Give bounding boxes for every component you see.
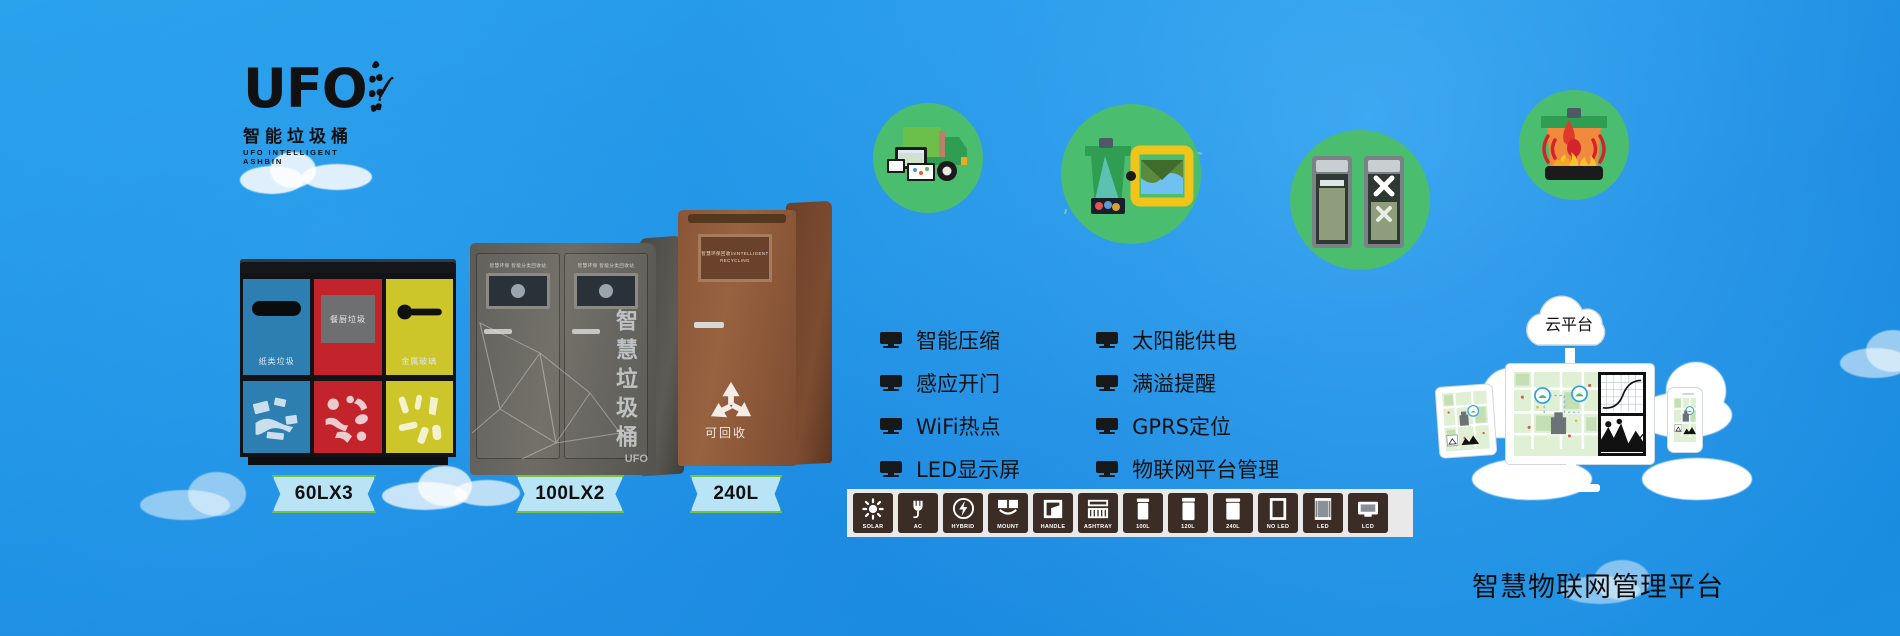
spec-icon-solar: SOLAR [853,493,893,533]
feature-list: 智能压缩 感应开门 WiFi热点 LED显示屏 太阳能供电 满溢提醒 [880,325,1279,484]
growth-line-chart-icon [1601,375,1643,412]
monitor-bullet-icon [1096,418,1118,434]
bin-compartment-paper: 纸类垃圾 [243,273,310,457]
bin-base [248,457,448,465]
spec-icon-no-led: NO LED [1258,493,1298,533]
monitor-bullet-icon [880,332,902,348]
compartment-label: 纸类垃圾 [243,356,310,367]
phone-screen [1674,398,1696,442]
spec-icon-240l: 240L [1213,493,1253,533]
map-thumbnail-icon [1442,391,1490,450]
platform-title: 智慧物联网管理平台 [1398,565,1798,604]
kitchen-waste-pictogram-icon [320,391,377,448]
spec-caption: 120L [1168,524,1208,533]
feature-item: 智能压缩 [880,325,1020,355]
compaction-bins-icon [1290,130,1430,270]
bin-handle [694,322,724,328]
handle-icon [1033,493,1073,524]
feature-label: WiFi热点 [916,411,1001,441]
bin-compartment-kitchen: 餐厨垃圾 [314,273,381,457]
led-panel-icon [1303,493,1343,524]
monitor-screen [1514,372,1646,456]
feature-column-left: 智能压缩 感应开门 WiFi热点 LED显示屏 [880,325,1020,484]
bin-120l-icon [1168,493,1208,524]
feature-item: WiFi热点 [880,411,1020,441]
feature-item: 物联网平台管理 [1096,454,1279,484]
screen-caption-right: 智慧环保 智能分类回收站 [571,263,641,269]
device-desktop-monitor [1506,364,1654,464]
spec-caption: NO LED [1258,524,1298,533]
metal-glass-pictogram-icon [391,391,448,448]
product-triple-60l-bin: 纸类垃圾 餐厨垃圾 [240,259,456,467]
spec-icon-ac: AC [898,493,938,533]
sun-icon [853,493,893,524]
polygon-graphic-decoration [470,313,630,463]
spec-icon-mount: MOUNT [988,493,1028,533]
spec-icon-handle: HANDLE [1033,493,1073,533]
spec-icon-led: LED [1303,493,1343,533]
spec-icon-ashtray: ASHTRAY [1078,493,1118,533]
monitor-bullet-icon [1096,375,1118,391]
power-plug-icon [898,493,938,524]
feature-item: 满溢提醒 [1096,368,1279,398]
spec-caption: MOUNT [988,524,1028,533]
spec-icon-120l: 120L [1168,493,1208,533]
bin-lid-strip [688,214,786,223]
screen-caption-left: 智慧环保 智能分类回收站 [483,263,553,269]
compartment-upper-panel: 餐厨垃圾 [314,279,381,375]
logo-english-tagline: UFO INTELLIGENT ASHBIN [243,148,373,166]
bin-100l-icon [1123,493,1163,524]
feature-circle-smart-compaction [1290,130,1430,270]
spec-caption: 100L [1123,524,1163,533]
compartment-lower-panel [386,381,453,453]
promo-banner: UFO 智能垃圾桶 UFO INTELLIGENT ASHBIN 纸类垃圾 [0,0,1900,636]
feature-label: GPRS定位 [1132,411,1231,441]
capacity-tag-60lx3: 60LX3 [272,475,376,513]
bin-screen-right [574,273,638,309]
spec-caption: HYBRID [943,524,983,533]
garbage-truck-icon [873,103,983,213]
device-tablet [1436,384,1497,458]
phone-speaker [1682,393,1694,395]
spec-caption: AC [898,524,938,533]
product-single-240l-bin: 智慧环保回收\nINTELLIGENT RECYCLING 可回收 [678,210,796,466]
monitor-bullet-icon [1096,461,1118,477]
feature-item: LED显示屏 [880,454,1020,484]
cloud-platform-label: 云平台 [1514,311,1624,335]
city-map-icon [1514,372,1598,449]
bin-240l-icon [1213,493,1253,524]
spec-icon-strip: SOLAR AC HYBRID MOUNT HANDLE [847,489,1413,537]
no-led-icon [1258,493,1298,524]
spec-icon-lcd: LCD [1348,493,1388,533]
monitor-map-panel [1514,372,1598,456]
feature-item: 感应开门 [880,368,1020,398]
spec-caption: 240L [1213,524,1253,533]
bin-body: 纸类垃圾 餐厨垃圾 [240,273,456,457]
recycle-symbol-icon [706,380,756,422]
screen-indicator [599,284,613,298]
monitor-bullet-icon [880,461,902,477]
bin-shell: 智慧环保回收\nINTELLIGENT RECYCLING 可回收 [678,210,796,466]
iot-platform-illustration: 云平台 [1430,300,1760,550]
feature-label: 太阳能供电 [1132,325,1237,355]
lcd-screen-icon [1348,493,1388,524]
tablet-screen [1442,391,1490,452]
line-chart-widget [1601,375,1643,413]
product-dual-100l-bin: 智慧环保 智能分类回收站 智慧环保 智能分类回收站 智慧垃圾桶 UFO [470,243,656,475]
capacity-tag-240l: 240L [690,475,782,513]
paper-waste-pictogram-icon [248,391,305,448]
compartment-lower-panel [314,381,381,453]
compartment-upper-panel: 纸类垃圾 [243,279,310,375]
waste-slot [252,301,300,316]
ashtray-icon [1078,493,1118,524]
spec-caption: HANDLE [1033,524,1073,533]
brand-logo: UFO 智能垃圾桶 UFO INTELLIGENT ASHBIN [243,58,373,158]
monitor-base [1542,484,1600,492]
cloud-platform-badge: 云平台 [1514,295,1624,351]
feature-label: LED显示屏 [916,454,1020,484]
feature-label: 智能压缩 [916,325,1000,355]
feature-circle-smart-collection-vehicle [873,103,983,213]
spec-caption: LED [1303,524,1343,533]
monitor-bullet-icon [1096,332,1118,348]
feature-item: GPRS定位 [1096,411,1279,441]
bin-compartment-metal-glass: 金属玻璃 [386,273,453,457]
logo-chinese-name: 智能垃圾桶 [243,122,373,147]
bin-lid [240,259,456,273]
compartment-upper-panel: 金属玻璃 [386,279,453,375]
area-chart-icon [1601,416,1643,453]
recycle-label: 可回收 [678,424,774,441]
bin-shell: 智慧环保 智能分类回收站 智慧环保 智能分类回收站 智慧垃圾桶 UFO [470,243,656,475]
logo-ring-icon [369,61,383,117]
feature-item: 太阳能供电 [1096,325,1279,355]
feature-circle-overflow-sensing [1061,104,1201,244]
hybrid-bolt-icon [943,493,983,524]
spec-icon-hybrid: HYBRID [943,493,983,533]
monitor-stand [1566,464,1576,486]
spec-caption: LCD [1348,524,1388,533]
screen-caption: 智慧环保回收\nINTELLIGENT RECYCLING [701,251,769,265]
bin-sensor-icon [1061,104,1201,244]
metal-glass-slot-icon [392,295,446,329]
map-thumbnail-icon [1674,398,1696,437]
compartment-plate-label: 餐厨垃圾 [321,295,375,343]
spec-icon-100l: 100L [1123,493,1163,533]
area-chart-widget [1601,416,1643,454]
spec-caption: ASHTRAY [1078,524,1118,533]
feature-label: 物联网平台管理 [1132,454,1279,484]
monitor-bullet-icon [880,375,902,391]
feature-circle-fire-alarm [1519,90,1629,200]
bin-screen-left [486,273,550,309]
logo-letters: UFO [243,62,367,116]
feature-label: 感应开门 [916,368,1000,398]
device-smartphone [1668,388,1702,452]
monitor-chart-panel [1598,372,1646,456]
compartment-label: 金属玻璃 [386,356,453,367]
screen-indicator [511,284,525,298]
compartment-lower-panel [243,381,310,453]
monitor-bullet-icon [880,418,902,434]
fire-alarm-bin-icon [1519,90,1629,200]
feature-column-right: 太阳能供电 满溢提醒 GPRS定位 物联网平台管理 [1096,325,1279,484]
wall-mount-icon [988,493,1028,524]
capacity-tag-100lx2: 100LX2 [516,475,624,513]
feature-label: 满溢提醒 [1132,368,1216,398]
spec-caption: SOLAR [853,524,893,533]
bin-screen: 智慧环保回收\nINTELLIGENT RECYCLING [698,234,772,282]
